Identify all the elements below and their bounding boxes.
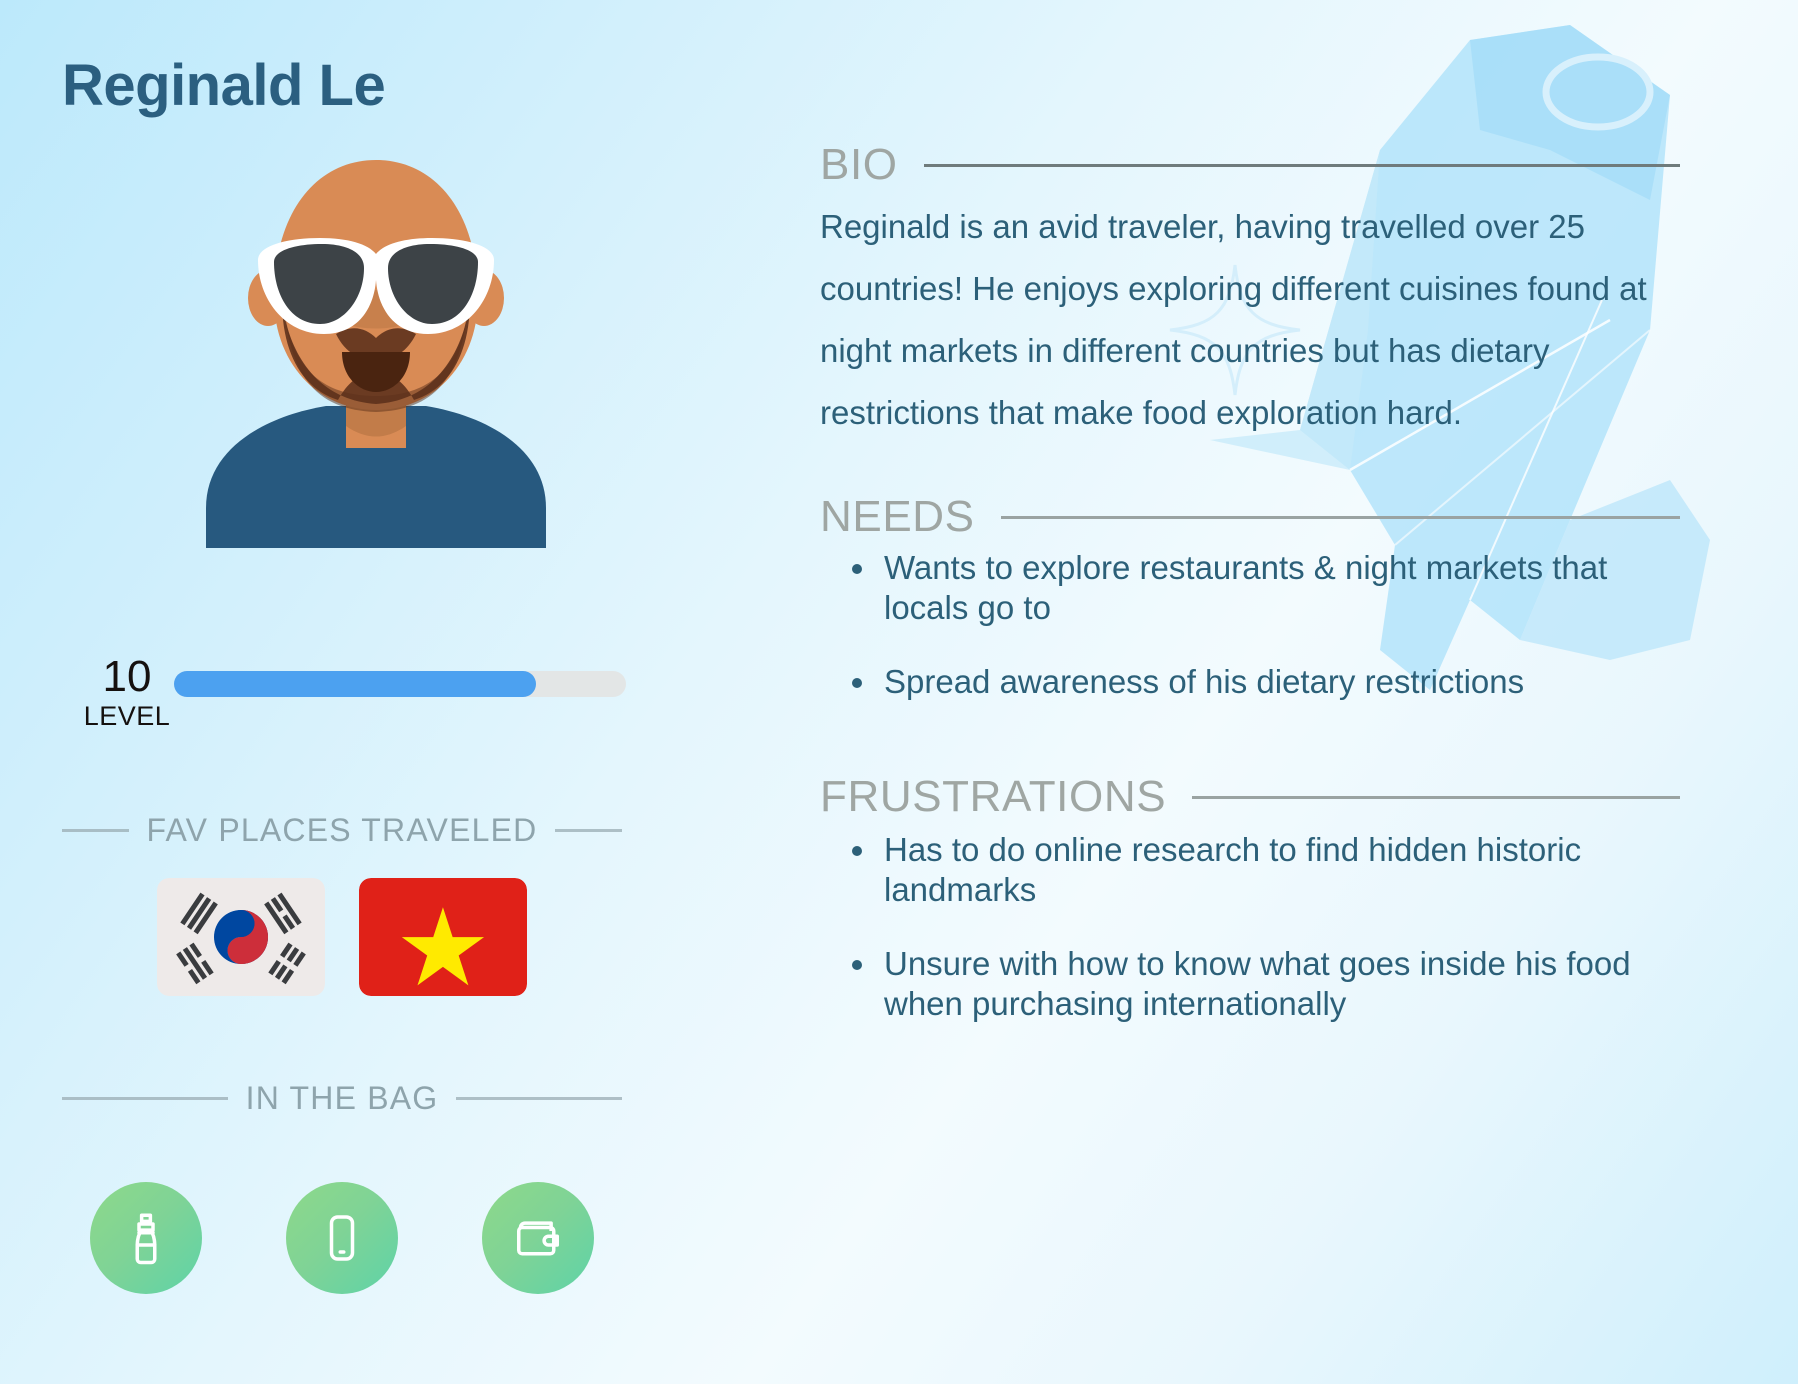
- list-item: Has to do online research to find hidden…: [838, 830, 1678, 910]
- flag-list: [62, 878, 622, 996]
- divider-line-left: [62, 829, 129, 832]
- page-title: Reginald Le: [62, 52, 385, 119]
- in-the-bag-heading-label: IN THE BAG: [246, 1080, 439, 1117]
- avatar-illustration-icon: [196, 148, 556, 548]
- divider-line: [1192, 796, 1680, 799]
- bag-item-smartphone[interactable]: [286, 1182, 398, 1294]
- level-indicator: 10 LEVEL: [62, 655, 642, 745]
- fav-places-heading-label: FAV PLACES TRAVELED: [147, 812, 538, 849]
- bio-text: Reginald is an avid traveler, having tra…: [820, 196, 1660, 444]
- list-item: Wants to explore restaurants & night mar…: [838, 548, 1678, 628]
- divider-line-left: [62, 1097, 228, 1100]
- level-label: LEVEL: [72, 703, 182, 730]
- bio-heading-label: BIO: [820, 140, 898, 190]
- south-korea-flag[interactable]: [157, 878, 325, 996]
- bag-item-list: [62, 1182, 622, 1294]
- in-the-bag-heading: IN THE BAG: [62, 1080, 622, 1117]
- level-progress-track[interactable]: [174, 671, 626, 697]
- wallet-icon: [510, 1210, 566, 1266]
- bio-heading: BIO: [820, 140, 1680, 190]
- list-item: Unsure with how to know what goes inside…: [838, 944, 1678, 1024]
- bag-item-wallet[interactable]: [482, 1182, 594, 1294]
- avatar: [196, 148, 556, 548]
- water-bottle-icon: [118, 1210, 174, 1266]
- needs-list: Wants to explore restaurants & night mar…: [838, 548, 1678, 736]
- vietnam-flag[interactable]: [359, 878, 527, 996]
- frustrations-heading-label: FRUSTRATIONS: [820, 772, 1166, 822]
- needs-heading-label: NEEDS: [820, 492, 975, 542]
- fav-places-heading: FAV PLACES TRAVELED: [62, 812, 622, 849]
- divider-line-right: [555, 829, 622, 832]
- list-item: Spread awareness of his dietary restrict…: [838, 662, 1678, 702]
- right-panel: BIO Reginald is an avid traveler, having…: [820, 0, 1700, 1384]
- persona-card: Reginald Le: [0, 0, 1798, 1384]
- frustrations-heading: FRUSTRATIONS: [820, 772, 1680, 822]
- smartphone-icon: [314, 1210, 370, 1266]
- divider-line: [924, 164, 1680, 167]
- needs-heading: NEEDS: [820, 492, 1680, 542]
- level-value: 10: [72, 655, 182, 699]
- left-panel: Reginald Le: [0, 0, 700, 1384]
- divider-line-right: [456, 1097, 622, 1100]
- level-progress-fill: [174, 671, 536, 697]
- frustrations-list: Has to do online research to find hidden…: [838, 830, 1678, 1058]
- bag-item-water-bottle[interactable]: [90, 1182, 202, 1294]
- divider-line: [1001, 516, 1680, 519]
